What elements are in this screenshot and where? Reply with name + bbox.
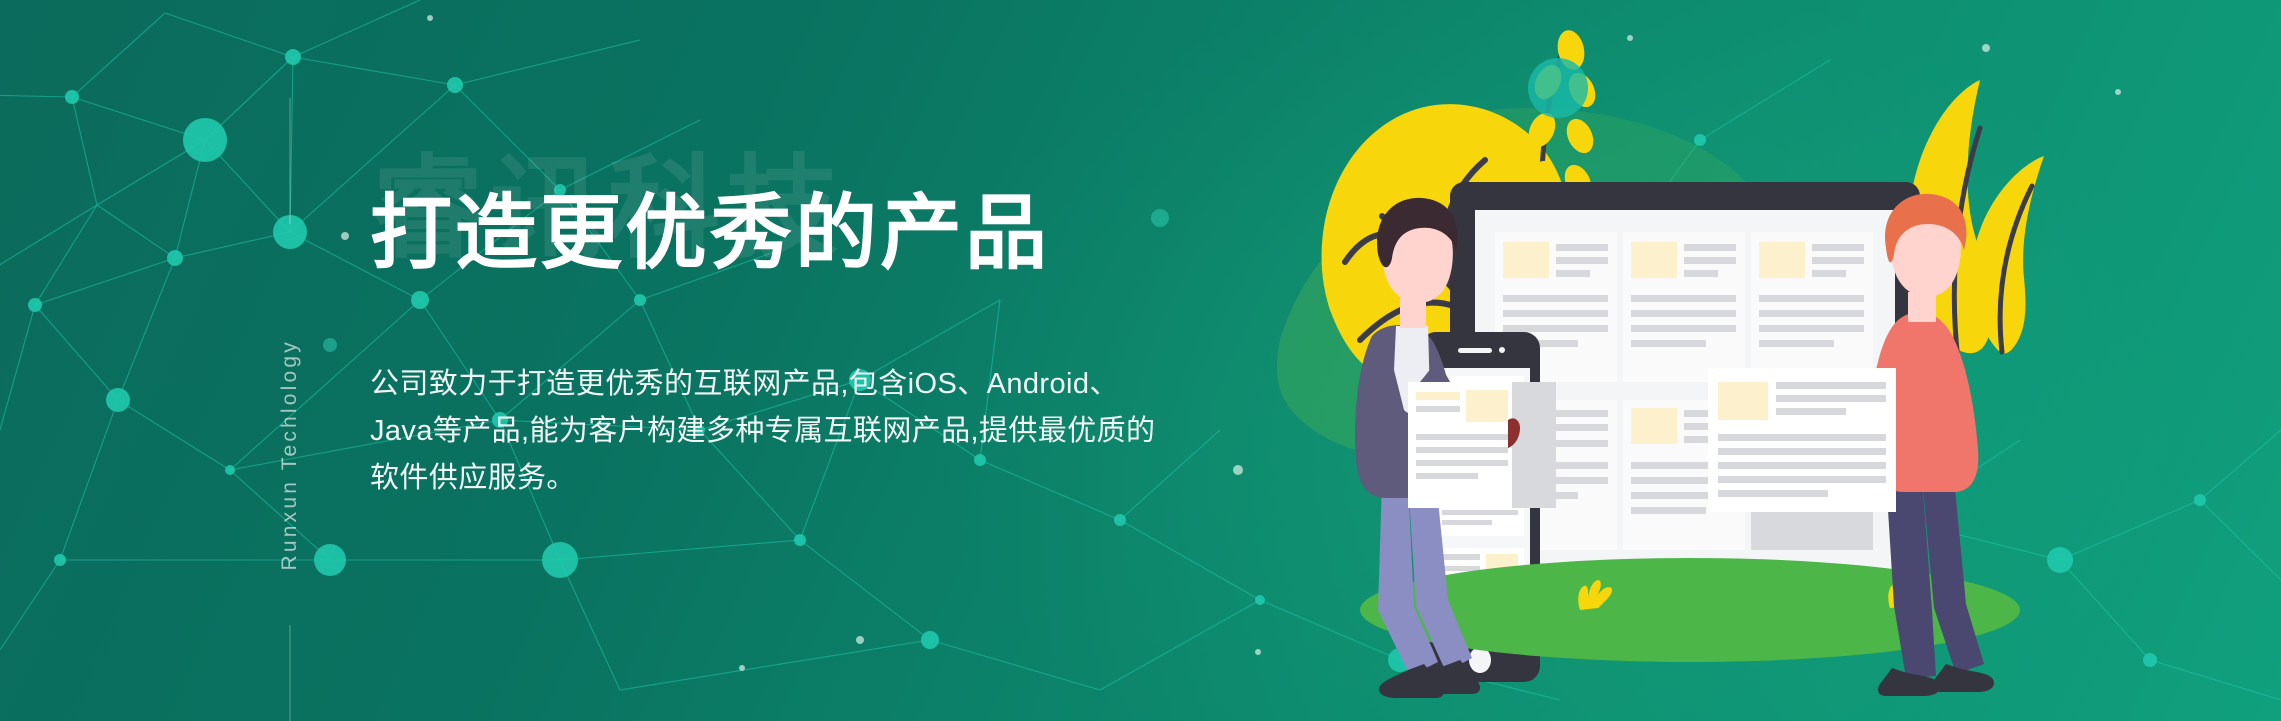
vertical-brand-text: Runxun Techlology bbox=[278, 339, 302, 570]
page-title: 打造更优秀的产品 bbox=[370, 191, 1050, 277]
text-layer: Runxun Techlology 打造更优秀的产品 公司致力于打造更优秀的互联… bbox=[0, 0, 2281, 721]
page-description: 公司致力于打造更优秀的互联网产品,包含iOS、Android、Java等产品,能… bbox=[370, 361, 1170, 502]
vertical-rule-top bbox=[290, 98, 291, 224]
hero-banner: 睿讯科技 bbox=[0, 0, 2281, 721]
vertical-brand-label: Runxun Techlology bbox=[268, 150, 312, 570]
vertical-rule-bottom bbox=[290, 625, 291, 721]
